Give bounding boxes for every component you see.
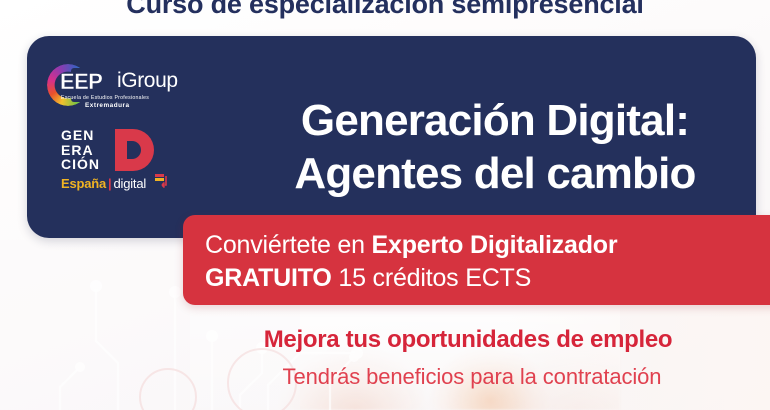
navy-headline-card: EEP iGroup Escuela de Estudios Profesion… [27,36,756,238]
generacion-wordmark: GEN ERA CIÓN [61,128,100,172]
poster-headline: Generación Digital: Agentes del cambio [209,94,770,200]
offer-line-1-strong: Experto Digitalizador [372,231,618,259]
offer-line-1: Conviértete en Experto Digitalizador [205,230,617,260]
offer-line-2-strong: GRATUITO [205,264,332,292]
generacion-digital-logo: GEN ERA CIÓN España|digital [61,128,211,188]
eu-recovery-arrow-icon [154,174,170,190]
eep-wordmark: EEP [60,69,102,95]
generacion-line-3: CIÓN [61,157,100,172]
promo-subline: Tendrás beneficios para la contratación [182,364,762,390]
generacion-line-2: ERA [61,143,100,158]
course-promo-poster: Curso de especialización semipresencial … [0,0,770,410]
espana-digital-wordmark: España|digital [61,176,146,191]
eep-subtitle-region: Extremadura [85,102,130,109]
eep-subtitle-school: Escuela de Estudios Profesionales [61,95,149,101]
red-offer-banner: Conviértete en Experto Digitalizador GRA… [183,215,770,305]
generacion-line-1: GEN [61,128,100,143]
digital-text: digital [113,176,146,191]
offer-line-2: GRATUITO 15 créditos ECTS [205,263,531,293]
offer-line-1-prefix: Conviértete en [205,231,372,259]
headline-line-2: Agentes del cambio [209,147,770,200]
headline-line-1: Generación Digital: [209,94,770,147]
promo-headline: Mejora tus oportunidades de empleo [182,326,754,354]
logo-stack: EEP iGroup Escuela de Estudios Profesion… [47,62,207,188]
espana-text: España [61,176,106,191]
letter-d-mark-icon [111,127,157,173]
offer-line-2-suffix: 15 créditos ECTS [332,264,531,292]
eep-igroup-logo: EEP iGroup Escuela de Estudios Profesion… [47,62,197,112]
kicker-text: Curso de especialización semipresencial [0,0,770,20]
eep-igroup-wordmark: iGroup [117,69,178,93]
